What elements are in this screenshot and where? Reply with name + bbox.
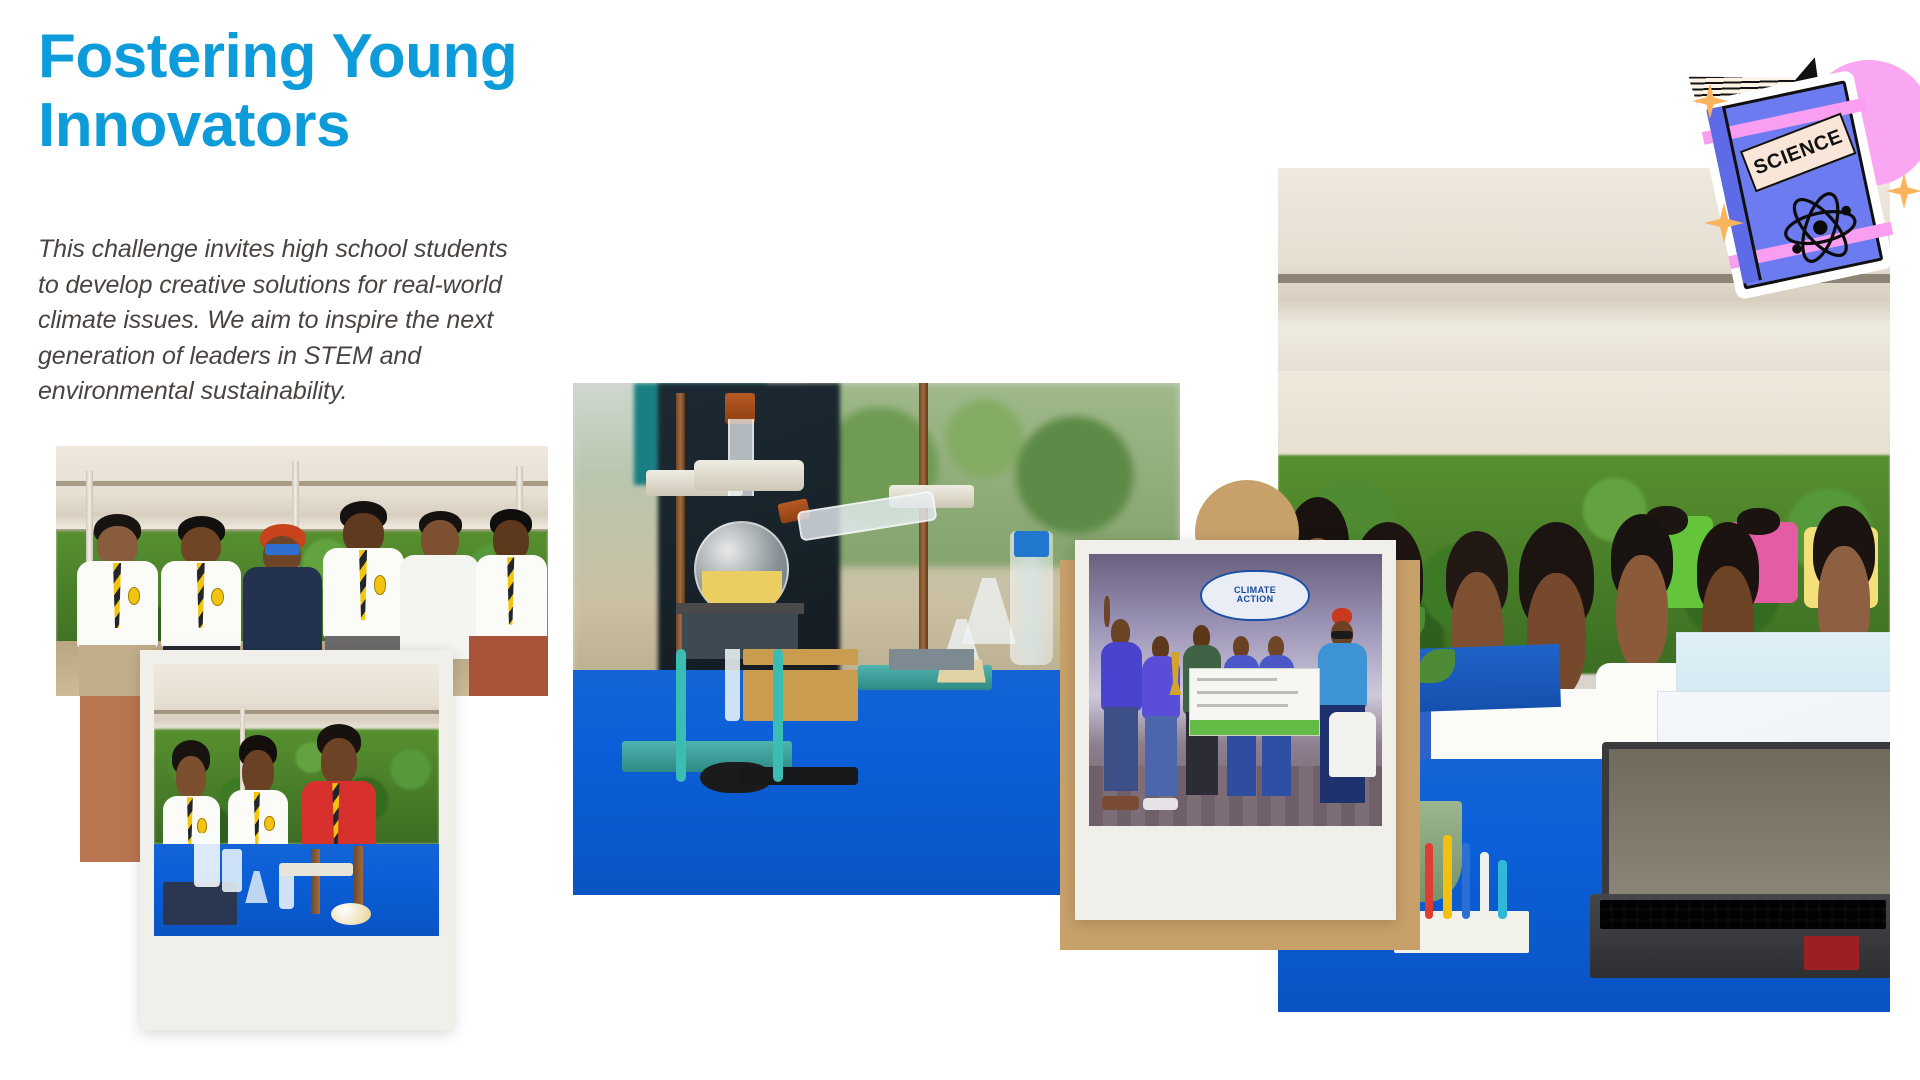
test-tube: [279, 873, 293, 908]
retort-rod: [919, 383, 928, 680]
clamp: [279, 863, 353, 877]
flask-clamp: [694, 460, 803, 491]
slide-canvas: Fostering Young Innovators This challeng…: [0, 0, 1920, 1080]
science-book-sticker: SCIENCE: [1690, 55, 1920, 295]
laptop-sticker: [1804, 936, 1859, 970]
person: [1101, 619, 1142, 809]
polaroid-award-ceremony: CLIMATE ACTION: [1075, 540, 1396, 920]
tent-bar: [154, 710, 439, 714]
test-tube-rack-top: [743, 649, 858, 664]
atom-icon: [1773, 180, 1868, 275]
glass-tube: [725, 649, 740, 721]
tubing: [676, 649, 686, 782]
round-bottom-flask: [331, 903, 371, 925]
wire: [1480, 852, 1489, 920]
polaroid-experiment-demo: [140, 650, 453, 1030]
rubber-hose: [737, 767, 858, 785]
retort-rod: [311, 849, 320, 914]
polaroid-award-ceremony-image: CLIMATE ACTION: [1089, 554, 1382, 826]
eyeglasses: [1331, 631, 1353, 639]
red-crate: [469, 636, 548, 696]
wire: [1462, 843, 1471, 919]
oversized-cheque: [1189, 668, 1320, 735]
banner-line-2: ACTION: [1237, 595, 1274, 605]
page-title: Fostering Young Innovators: [38, 22, 718, 161]
science-book-icon: SCIENCE: [1687, 48, 1919, 303]
test-tube-rack: [743, 670, 858, 721]
tent-bar: [56, 481, 548, 486]
metal-tray: [889, 649, 974, 669]
cheque-footer-strip: [1190, 720, 1319, 734]
laptop-keyboard: [1600, 900, 1886, 929]
polaroid-experiment-demo-image: [154, 664, 439, 936]
bottle: [222, 849, 242, 893]
bottle: [194, 833, 220, 887]
tubing: [773, 649, 783, 782]
wire: [1425, 843, 1434, 919]
book-title-text: SCIENCE: [1751, 125, 1846, 180]
armchair: [1329, 712, 1376, 777]
raised-arm: [1104, 596, 1110, 626]
climate-action-banner: CLIMATE ACTION: [1200, 570, 1309, 620]
wire: [1498, 860, 1507, 919]
bottle-cap: [1014, 531, 1049, 557]
laptop-screen: [1602, 742, 1890, 908]
wire: [1443, 835, 1452, 919]
intro-paragraph: This challenge invites high school stude…: [38, 232, 638, 410]
